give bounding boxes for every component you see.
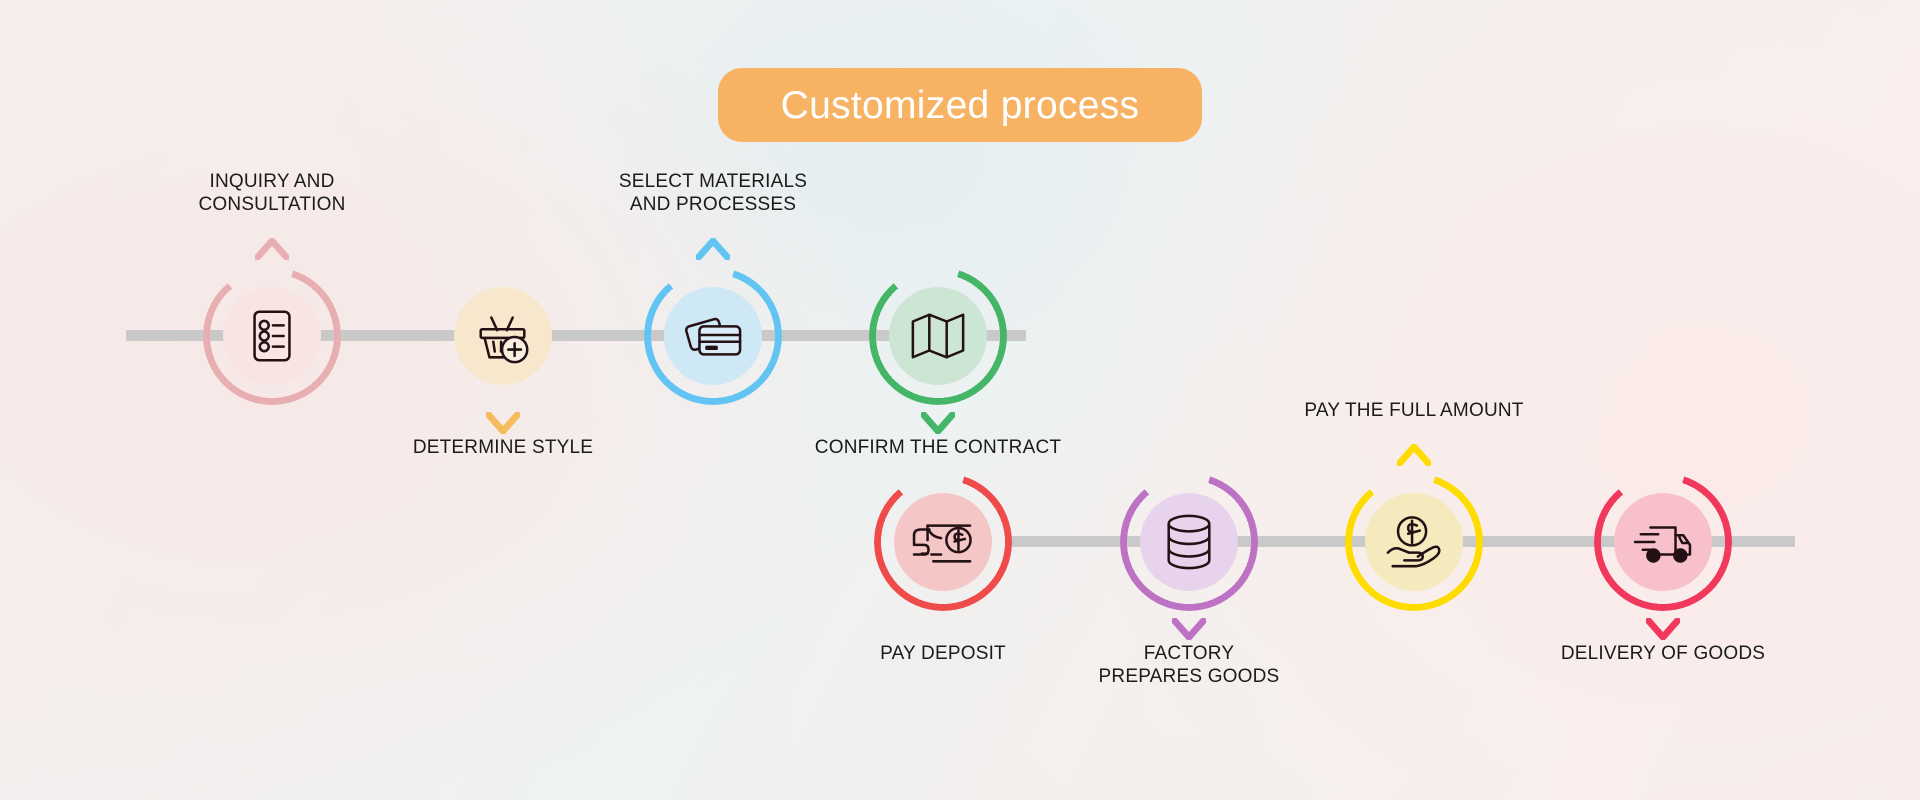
step-label-factory-prepares-goods: FACTORY PREPARES GOODS — [1099, 642, 1280, 688]
chevron-up-icon-pay-the-full-amount — [1397, 444, 1431, 466]
folded-map-icon — [869, 267, 1007, 405]
step-label-pay-deposit: PAY DEPOSIT — [880, 642, 1006, 665]
chevron-down-icon-delivery-of-goods — [1646, 618, 1680, 640]
delivery-truck-icon — [1594, 473, 1732, 611]
step-label-inquiry-and-consultation: INQUIRY AND CONSULTATION — [198, 170, 345, 216]
chevron-down-icon-factory-prepares-goods — [1172, 618, 1206, 640]
chevron-down-icon-determine-style — [486, 412, 520, 434]
page-title-banner: Customized process — [718, 68, 1202, 142]
checklist-icon — [203, 267, 341, 405]
step-label-delivery-of-goods: DELIVERY OF GOODS — [1561, 642, 1765, 665]
hand-cash-dollar-icon — [874, 473, 1012, 611]
step-node-factory-prepares-goods[interactable] — [1120, 473, 1258, 611]
step-node-select-materials-and-processes[interactable] — [644, 267, 782, 405]
step-label-confirm-the-contract: CONFIRM THE CONTRACT — [815, 436, 1061, 459]
credit-cards-icon — [644, 267, 782, 405]
chevron-up-icon-select-materials-and-processes — [696, 238, 730, 260]
step-label-pay-the-full-amount: PAY THE FULL AMOUNT — [1304, 399, 1523, 422]
step-node-pay-the-full-amount[interactable] — [1345, 473, 1483, 611]
step-label-determine-style: DETERMINE STYLE — [413, 436, 593, 459]
step-label-select-materials-and-processes: SELECT MATERIALS AND PROCESSES — [619, 170, 807, 216]
step-node-pay-deposit[interactable] — [874, 473, 1012, 611]
hand-holding-coin-icon — [1345, 473, 1483, 611]
step-node-delivery-of-goods[interactable] — [1594, 473, 1732, 611]
step-node-inquiry-and-consultation[interactable] — [203, 267, 341, 405]
process-diagram-canvas: Customized process INQUIRY AND CONSULTAT… — [0, 0, 1920, 800]
page-title: Customized process — [781, 86, 1140, 125]
step-node-confirm-the-contract[interactable] — [869, 267, 1007, 405]
step-node-determine-style[interactable] — [434, 267, 572, 405]
chevron-down-icon-confirm-the-contract — [921, 412, 955, 434]
chevron-up-icon-inquiry-and-consultation — [255, 238, 289, 260]
shopping-basket-add-icon — [434, 267, 572, 405]
database-stack-icon — [1120, 473, 1258, 611]
